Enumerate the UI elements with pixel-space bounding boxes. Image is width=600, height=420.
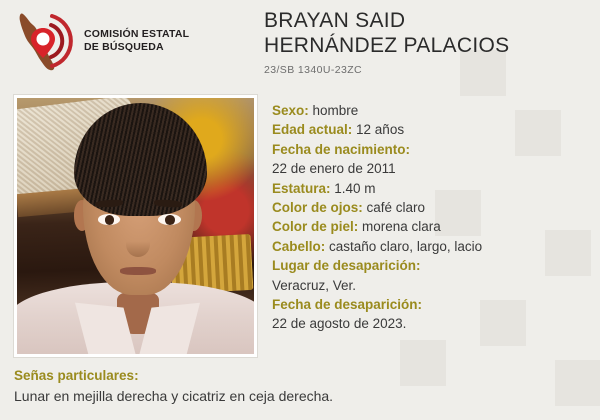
detail-value: 22 de agosto de 2023.: [272, 316, 406, 331]
detail-label: Fecha de nacimiento:: [272, 142, 410, 157]
person-photo-frame: [14, 95, 257, 357]
detail-line: Fecha de desaparición:: [272, 295, 594, 314]
detail-line: Estatura: 1.40 m: [272, 179, 594, 198]
detail-line: Sexo: hombre: [272, 101, 594, 120]
detail-label: Estatura:: [272, 181, 331, 196]
detail-value: 1.40 m: [331, 181, 376, 196]
distinguishing-marks-label: Señas particulares:: [14, 366, 584, 385]
distinguishing-marks-value: Lunar en mejilla derecha y cicatriz en c…: [14, 386, 584, 406]
person-name: BRAYAN SAID HERNÁNDEZ PALACIOS: [264, 8, 594, 59]
detail-line: Color de piel: morena clara: [272, 217, 594, 236]
detail-label: Sexo:: [272, 103, 309, 118]
detail-value: hombre: [309, 103, 359, 118]
detail-line: Lugar de desaparición:: [272, 256, 594, 275]
organization-logo: COMISIÓN ESTATAL DE BÚSQUEDA: [14, 6, 214, 76]
missing-person-poster: COMISIÓN ESTATAL DE BÚSQUEDA BRAYAN SAID…: [0, 0, 600, 420]
detail-line: Veracruz, Ver.: [272, 276, 594, 295]
case-number: 23/SB 1340U-23ZC: [264, 64, 594, 76]
title-block: BRAYAN SAID HERNÁNDEZ PALACIOS 23/SB 134…: [264, 8, 594, 76]
veracruz-map-pin-icon: [14, 8, 76, 74]
detail-value: Veracruz, Ver.: [272, 278, 356, 293]
detail-label: Lugar de desaparición:: [272, 258, 421, 273]
detail-value: café claro: [363, 200, 425, 215]
person-photo: [17, 98, 254, 354]
detail-label: Cabello:: [272, 239, 325, 254]
details-list: Sexo: hombreEdad actual: 12 añosFecha de…: [272, 101, 594, 334]
detail-label: Edad actual:: [272, 122, 352, 137]
detail-line: Color de ojos: café claro: [272, 198, 594, 217]
detail-line: Fecha de nacimiento:: [272, 140, 594, 159]
detail-label: Color de ojos:: [272, 200, 363, 215]
detail-line: 22 de enero de 2011: [272, 159, 594, 178]
detail-value: morena clara: [358, 219, 441, 234]
distinguishing-marks: Señas particulares: Lunar en mejilla der…: [14, 366, 584, 406]
detail-line: 22 de agosto de 2023.: [272, 314, 594, 333]
detail-value: 12 años: [352, 122, 404, 137]
detail-label: Fecha de desaparición:: [272, 297, 422, 312]
organization-name: COMISIÓN ESTATAL DE BÚSQUEDA: [84, 28, 189, 54]
detail-line: Edad actual: 12 años: [272, 120, 594, 139]
detail-value: castaño claro, largo, lacio: [325, 239, 482, 254]
detail-value: 22 de enero de 2011: [272, 161, 396, 176]
detail-line: Cabello: castaño claro, largo, lacio: [272, 237, 594, 256]
detail-label: Color de piel:: [272, 219, 358, 234]
